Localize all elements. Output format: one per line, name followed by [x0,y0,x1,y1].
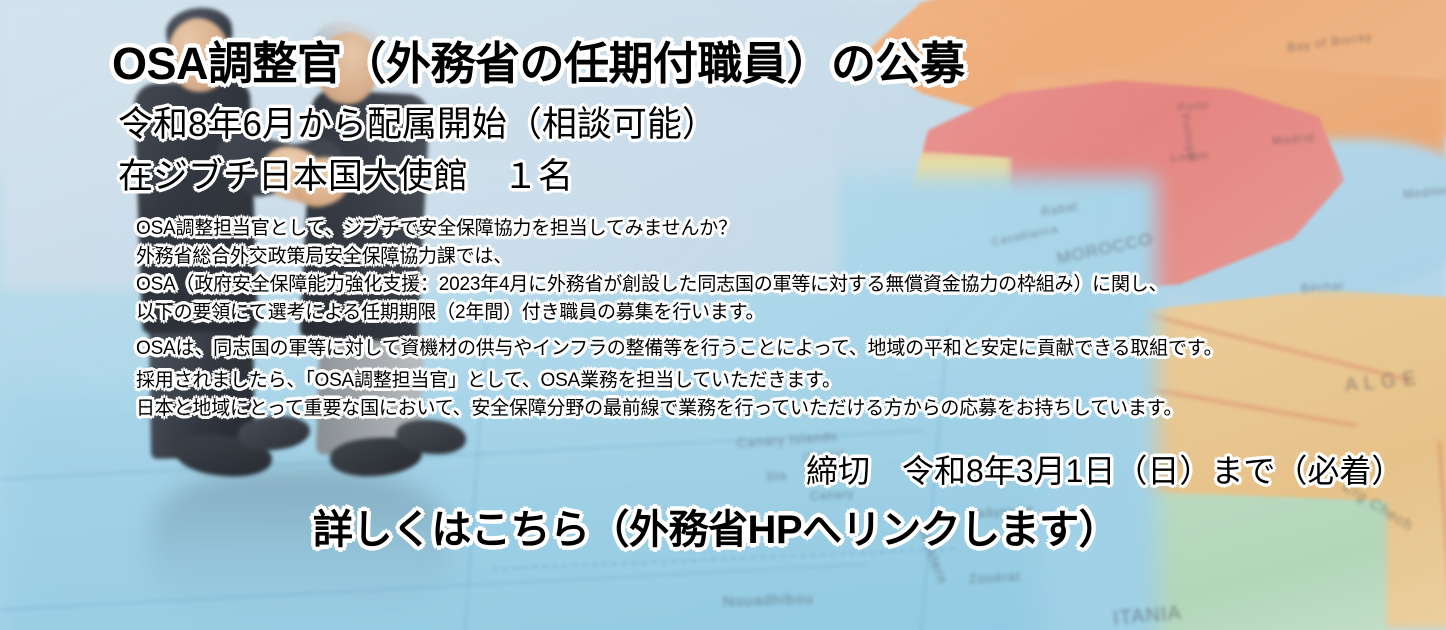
body-line-2: 外務省総合外交政策局安全保障協力課では、 [136,241,512,268]
banner-subtitle-post-location: 在ジブチ日本国大使館 １名 [118,148,573,199]
application-deadline: 締切 令和8年3月1日（日）まで（必着） [806,446,1403,492]
body-line-1: OSA調整担当官として、ジブチで安全保障協力を担当してみませんか？ [136,213,737,240]
body-line-7: 日本と地域にとって重要な国において、安全保障分野の最前線で業務を行っていただける… [136,393,1182,420]
banner-title: OSA調整官（外務省の任期付職員）の公募 [112,27,965,92]
banner-subtitle-start-date: 令和8年6月から配属開始（相談可能） [118,96,717,147]
body-line-5: OSAは、同志国の軍等に対して資機材の供与やインフラの整備等を行うことによって、… [136,333,1222,360]
body-line-4: 以下の要領にて選考による任期期限（2年間）付き職員の募集を行います。 [136,297,764,324]
body-line-3: OSA（政府安全保障能力強化支援：2023年4月に外務省が創設した同志国の軍等に… [136,269,1167,296]
more-details-link[interactable]: 詳しくはこちら（外務省HPへリンクします） [313,497,1118,555]
body-line-6: 採用されましたら、「OSA調整担当官」として、OSA業務を担当していただきます。 [136,365,841,392]
text-overlay: OSA調整官（外務省の任期付職員）の公募 令和8年6月から配属開始（相談可能） … [0,0,1446,630]
osa-recruitment-banner: Canary Islands(Spain)StaCanaryNouadhibou… [0,0,1446,630]
